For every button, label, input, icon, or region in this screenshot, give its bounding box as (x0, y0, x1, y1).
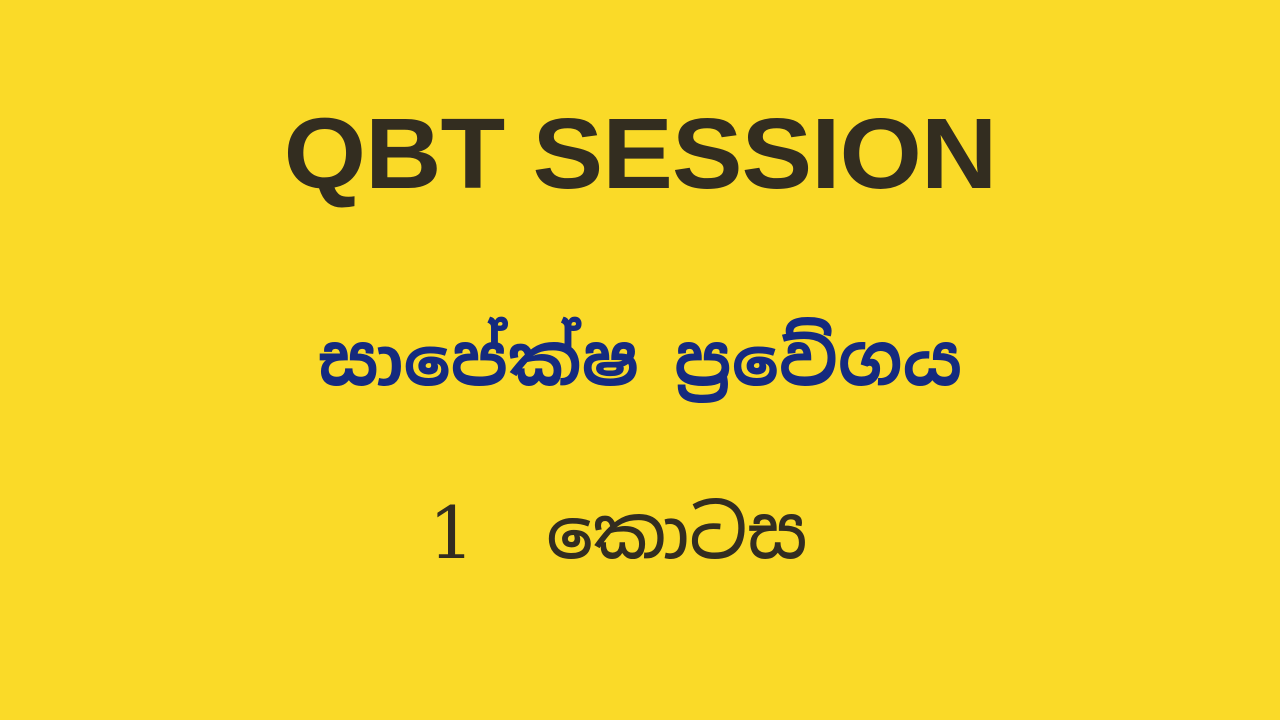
subject-title-sinhala: සාපේක්ෂ ප්‍රවේගය (0, 318, 1280, 402)
page-title: QBT SESSION (0, 104, 1280, 204)
part-label: 1 කොටස (0, 490, 1280, 576)
part-number: 1 (429, 491, 475, 575)
part-label-spacer (474, 486, 546, 580)
title-slide: QBT SESSION සාපේක්ෂ ප්‍රවේගය 1 කොටස (0, 0, 1280, 720)
part-word-sinhala: කොටස (546, 486, 807, 580)
